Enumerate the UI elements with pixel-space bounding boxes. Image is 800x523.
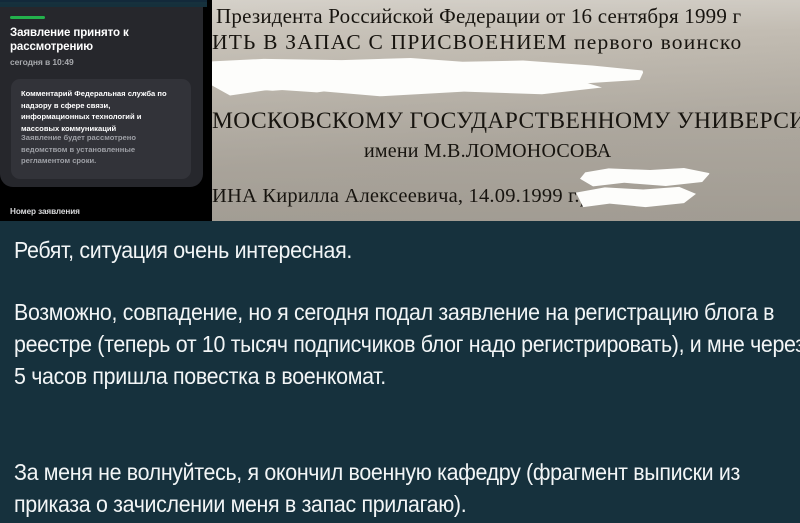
application-number-label: Номер заявления bbox=[10, 207, 80, 216]
document-line-1: Президента Российской Федерации от 16 се… bbox=[216, 4, 741, 29]
agency-comment-heading: Комментарий Федеральная служба по надзор… bbox=[21, 88, 181, 134]
agency-comment-box: Комментарий Федеральная служба по надзор… bbox=[11, 79, 191, 179]
screenshot-root: Заявление принято к рассмотрению сегодня… bbox=[0, 0, 800, 523]
document-scan-panel: Президента Российской Федерации от 16 се… bbox=[212, 0, 800, 221]
post-paragraph-2: Возможно, совпадение, но я сегодня подал… bbox=[14, 296, 800, 392]
post-paragraph-3: За меня не волнуйтесь, я окончил военную… bbox=[14, 456, 800, 520]
document-line-4: имени М.В.ЛОМОНОСОВА bbox=[364, 140, 611, 163]
top-image-row: Заявление принято к рассмотрению сегодня… bbox=[0, 0, 800, 221]
post-text-block: Ребят, ситуация очень интересная. Возмож… bbox=[0, 221, 800, 523]
status-card-timestamp: сегодня в 10:49 bbox=[10, 57, 74, 67]
post-paragraph-1: Ребят, ситуация очень интересная. bbox=[14, 234, 800, 266]
document-line-5: ИНА Кирилла Алексеевича, 14.09.1999 г.р. bbox=[212, 185, 596, 208]
redaction-stroke-icon bbox=[576, 186, 696, 208]
redaction-stroke-icon bbox=[580, 168, 710, 188]
document-line-3: МОСКОВСКОМУ ГОСУДАРСТВЕННОМУ УНИВЕРСИТ bbox=[212, 108, 800, 135]
status-card-title: Заявление принято к рассмотрению bbox=[10, 27, 170, 54]
redaction-stroke-icon bbox=[302, 76, 602, 102]
application-status-card[interactable]: Заявление принято к рассмотрению сегодня… bbox=[0, 7, 203, 187]
green-status-bar-icon bbox=[10, 16, 45, 19]
agency-comment-body: Заявление будет рассмотрено ведомством в… bbox=[21, 132, 181, 167]
phone-screenshot-panel: Заявление принято к рассмотрению сегодня… bbox=[0, 4, 207, 221]
document-line-2: ИТЬ В ЗАПАС С ПРИСВОЕНИЕМ первого воинск… bbox=[212, 30, 742, 55]
